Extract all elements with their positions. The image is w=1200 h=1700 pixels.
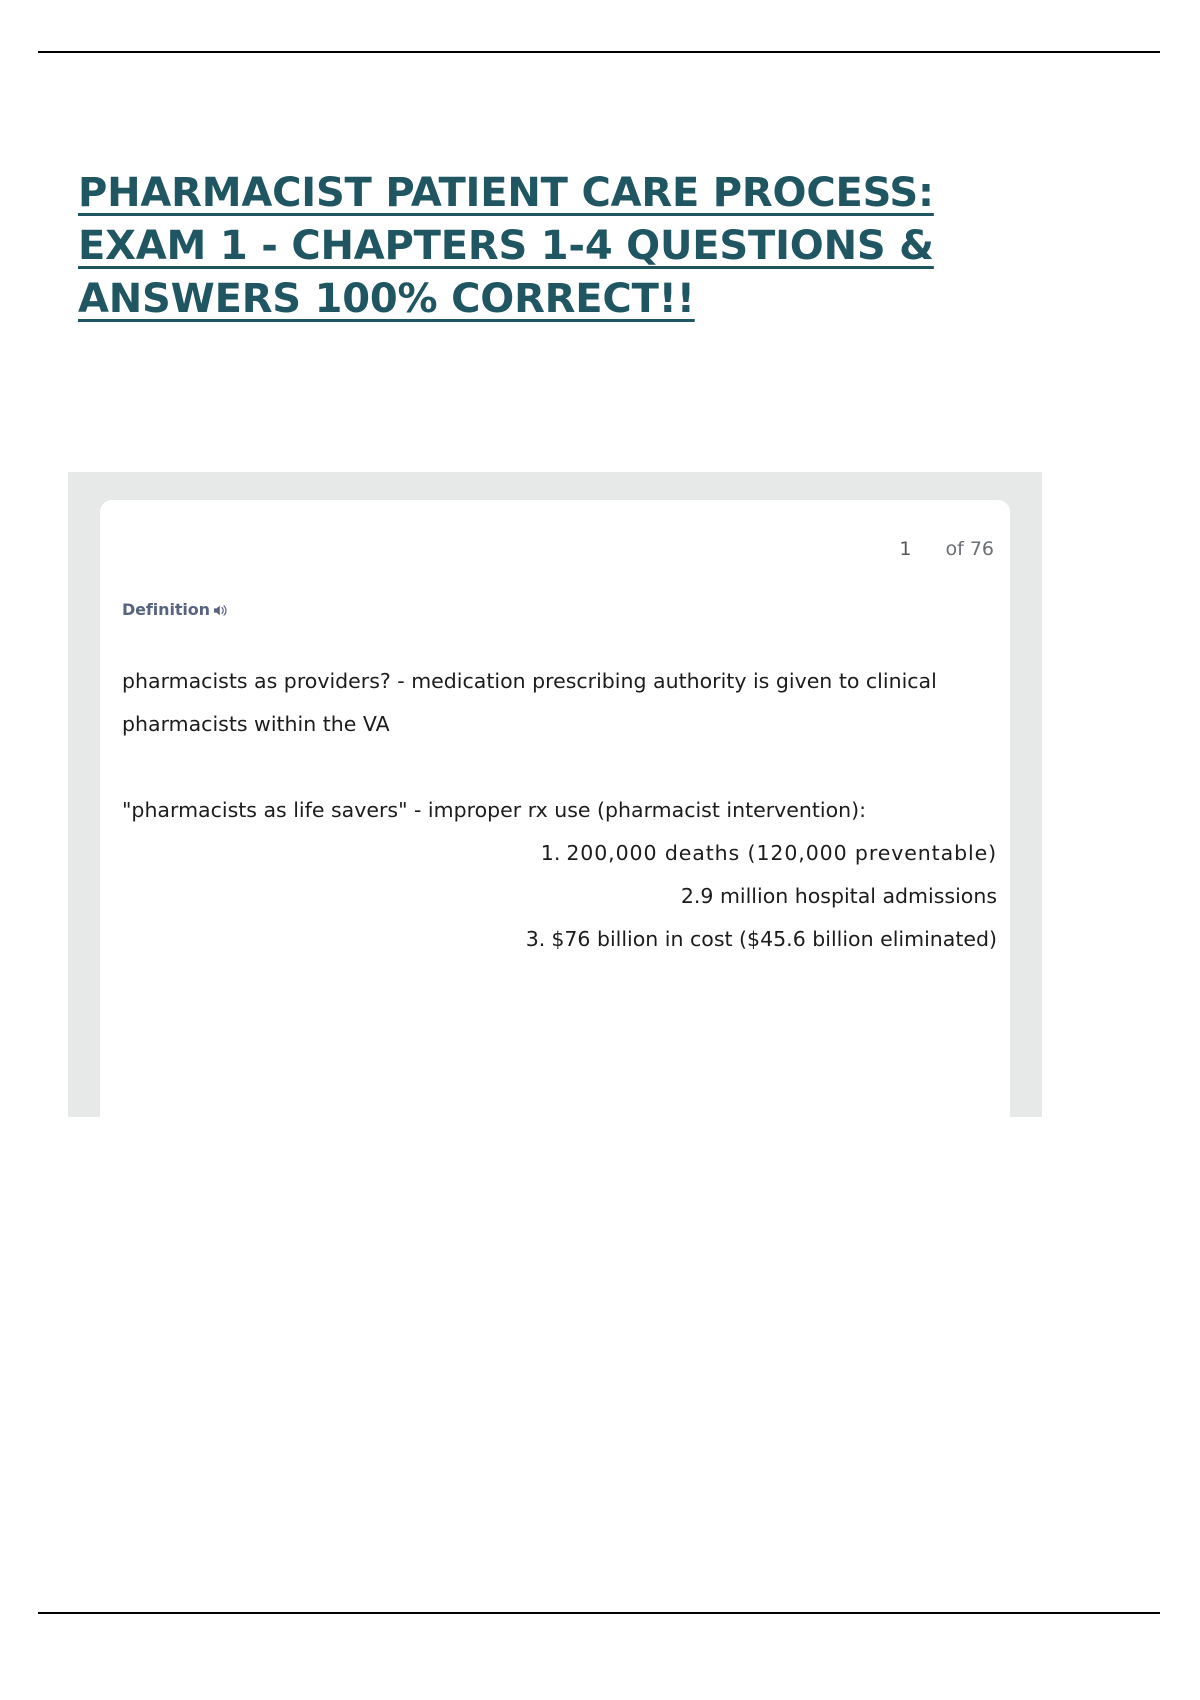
definition-body: pharmacists as providers? - medication p… [122, 660, 997, 961]
list-item-text: 2.9 million hospital admissions [681, 875, 997, 918]
definition-label: Definition [122, 600, 210, 619]
list-item: 2.9 million hospital admissions [122, 875, 997, 918]
list-item-marker: 1. [534, 832, 560, 875]
header-divider [38, 51, 1160, 53]
definition-paragraph-1: pharmacists as providers? - medication p… [122, 660, 997, 746]
card-counter-current: 1 [899, 538, 911, 560]
definition-paragraph-2: "pharmacists as life savers" - improper … [122, 789, 997, 832]
definition-numbered-list: 1. 200,000 deaths (120,000 preventable) … [122, 832, 997, 961]
list-item: 3. $76 billion in cost ($45.6 billion el… [122, 918, 997, 961]
footer-divider [38, 1612, 1160, 1614]
definition-header: Definition [122, 600, 229, 619]
list-item-marker: 3. [519, 918, 545, 961]
list-item: 1. 200,000 deaths (120,000 preventable) [122, 832, 997, 875]
speaker-icon[interactable] [212, 602, 229, 619]
flashcard-frame: 1 of 76 Definition pharmacists as provid… [68, 472, 1042, 1117]
card-counter-total: of 76 [945, 538, 994, 560]
list-item-text: 200,000 deaths (120,000 preventable) [566, 832, 997, 875]
list-item-text: $76 billion in cost ($45.6 billion elimi… [551, 918, 997, 961]
card-counter: 1 of 76 [899, 538, 994, 560]
page-title: PHARMACIST PATIENT CARE PROCESS: EXAM 1 … [78, 167, 978, 326]
flashcard: 1 of 76 Definition pharmacists as provid… [100, 500, 1010, 1140]
document-page: PHARMACIST PATIENT CARE PROCESS: EXAM 1 … [0, 0, 1200, 1700]
